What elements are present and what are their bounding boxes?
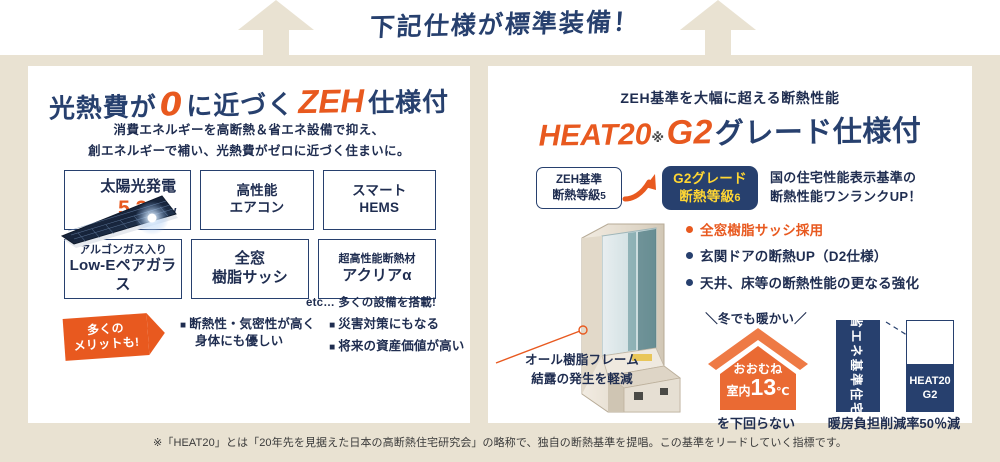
right-title-heat20: HEAT20	[538, 118, 651, 153]
etc-note: etc… 多くの設備を搭載!	[306, 294, 436, 310]
merits-column-2: ■災害対策にもなる ■将来の資産価値が高い	[329, 316, 464, 355]
badge-g2-label: 断熱等級	[679, 189, 734, 204]
merits-section: 多くの メリットも! ■断熱性・気密性が高く 身体にも優しい ■災害対策にもなる…	[64, 316, 464, 358]
house-temperature-value: 13	[751, 374, 777, 400]
merit-text: 災害対策にもなる	[338, 317, 439, 331]
badge-note-line2: 断熱性能ワンランクUP！	[770, 188, 922, 207]
spec-insulation-label1: 超高性能断熱材	[339, 253, 416, 267]
spec-cell-hems: スマート HEMS	[323, 170, 436, 230]
spec-row-2: アルゴンガス入り Low-Eペアガラス 全窓 樹脂サッシ 超高性能断熱材 アクリ…	[64, 239, 436, 299]
bar-standard-house: 省エネ基準住宅	[836, 320, 880, 412]
merits-column-1: ■断熱性・気密性が高く 身体にも優しい	[180, 316, 315, 355]
badge-g2-line2: 断熱等級6	[679, 188, 741, 206]
spec-cell-sash: 全窓 樹脂サッシ	[191, 239, 309, 299]
feature-bullet-text: 全窓樹脂サッシ採用	[700, 223, 823, 238]
badge-note-line1: 国の住宅性能表示基準の	[770, 169, 922, 188]
bar-chart-caption: 暖房負担削減率50％減	[822, 413, 966, 432]
spec-solar-label: 太陽光発電	[100, 178, 176, 197]
left-panel-title: 光熱費が0に近づくZEH仕様付	[28, 80, 471, 126]
feature-bullet-text: 玄関ドアの断熱UP（D2仕様）	[700, 249, 888, 264]
photo-callout: オール樹脂フレーム 結露の発生を軽減	[498, 351, 666, 389]
bar-heat20-label-line1: HEAT20	[909, 374, 950, 388]
badge-g2-line1: G2グレード	[673, 170, 747, 188]
badge-zeh-standard: ZEH基準 断熱等級5	[536, 167, 622, 209]
merit-item: ■断熱性・気密性が高く 身体にも優しい	[180, 316, 315, 350]
ribbon-line2: メリットも!	[73, 335, 140, 355]
house-text-line2: 室内13℃	[704, 374, 812, 401]
bar-heat20-fill: HEAT20 G2	[906, 364, 954, 412]
bar-standard-label: 省エネ基準住宅	[836, 320, 880, 412]
badge-note: 国の住宅性能表示基準の 断熱性能ワンランクUP！	[770, 169, 922, 207]
comfort-figure: ＼冬でも暖かい／ おおむね 室内13℃ を下回らない 省エネ基準住宅 HEAT2…	[684, 308, 966, 428]
upgrade-arrow-icon	[622, 168, 662, 208]
spec-hems-label2: HEMS	[359, 200, 399, 217]
bar-heat20-g2: HEAT20 G2	[906, 320, 954, 412]
spec-cell-glass: アルゴンガス入り Low-Eペアガラス	[64, 239, 182, 299]
house-below-caption: を下回らない	[690, 413, 822, 432]
right-title-g2: G2	[664, 113, 715, 152]
photo-callout-line2: 結露の発生を軽減	[498, 370, 666, 389]
top-banner: 下記仕様が標準装備！	[0, 0, 1000, 62]
banner-headline: 下記仕様が標準装備！	[354, 2, 657, 44]
left-title-post: 仕様付	[368, 88, 450, 119]
spec-row-1: 太陽光発電 5.36kw 高性能 エアコン スマート HEMS	[64, 170, 436, 230]
feature-bullet-sash: 全窓樹脂サッシ採用	[686, 218, 919, 244]
badge-zeh-number: 5	[600, 191, 606, 202]
merits-list: ■断熱性・気密性が高く 身体にも優しい ■災害対策にもなる ■将来の資産価値が高…	[180, 316, 464, 355]
left-title-zeh: ZEH	[294, 82, 369, 120]
feature-bullets: 全窓樹脂サッシ採用 玄関ドアの断熱UP（D2仕様） 天井、床等の断熱性能の更なる…	[686, 218, 919, 297]
left-title-zero: 0	[157, 85, 187, 124]
right-panel-title: HEAT20※G2グレード仕様付	[488, 107, 973, 156]
photo-callout-line1: オール樹脂フレーム	[498, 351, 666, 370]
house-indoor-label: 室内	[727, 384, 751, 398]
left-panel: 光熱費が0に近づくZEH仕様付 消費エネルギーを高断熱＆省エネ設備で抑え、 創エ…	[28, 66, 470, 423]
bar-heat20-label-line2: G2	[923, 388, 938, 402]
merit-item: ■将来の資産価値が高い	[329, 338, 464, 355]
spec-grid: 太陽光発電 5.36kw 高性能 エアコン スマート HEMS アルゴンガス入り…	[64, 170, 436, 308]
merit-text: 将来の資産価値が高い	[338, 339, 464, 353]
spec-aircon-label2: エアコン	[230, 200, 285, 217]
house-temperature-unit: ℃	[776, 386, 789, 398]
badge-g2-grade: G2グレード 断熱等級6	[662, 166, 758, 210]
left-subtitle-line1: 消費エネルギーを高断熱＆省エネ設備で抑え、	[28, 120, 470, 141]
merit-item: ■災害対策にもなる	[329, 316, 464, 333]
spec-glass-label2: Low-Eペアガラス	[65, 257, 181, 294]
spec-cell-solar: 太陽光発電 5.36kw	[64, 170, 191, 230]
right-title-ref-mark: ※	[651, 131, 664, 146]
left-title-mid: に近づく	[186, 90, 295, 122]
right-panel: ZEH基準を大幅に超える断熱性能 HEAT20※G2グレード仕様付 ZEH基準 …	[488, 66, 972, 423]
right-title-post: グレード仕様付	[715, 113, 922, 150]
left-panel-subtitle: 消費エネルギーを高断熱＆省エネ設備で抑え、 創エネルギーで補い、光熱費がゼロに近…	[28, 120, 470, 161]
spec-cell-aircon: 高性能 エアコン	[200, 170, 313, 230]
right-panel-subtitle: ZEH基準を大幅に超える断熱性能	[488, 88, 972, 108]
bullet-square-icon: ■	[329, 320, 335, 331]
feature-bullet-text: 天井、床等の断熱性能の更なる強化	[700, 276, 919, 291]
spec-aircon-label1: 高性能	[236, 183, 277, 200]
spec-insulation-label2: アクリアα	[342, 267, 411, 286]
infographic-root: 下記仕様が標準装備！ 光熱費が0に近づくZEH仕様付 消費エネルギーを高断熱＆省…	[0, 0, 1000, 462]
merits-ribbon: 多くの メリットも!	[63, 313, 150, 361]
spec-solar-unit: kw	[159, 203, 176, 218]
footnote: ※「HEAT20」とは「20年先を見据えた日本の高断熱住宅研究会」の略称で、独自…	[0, 434, 1000, 450]
bullet-square-icon: ■	[329, 342, 335, 353]
grade-badges: ZEH基準 断熱等級5 G2グレード 断熱等級6 国の住宅性能表示基準の 断熱性…	[536, 166, 922, 210]
badge-zeh-label: 断熱等級	[552, 188, 600, 202]
merit-text-cont: 身体にも優しい	[180, 333, 315, 350]
spec-sash-label2: 樹脂サッシ	[212, 269, 288, 288]
badge-zeh-line2: 断熱等級5	[552, 188, 606, 204]
spec-cell-insulation: 超高性能断熱材 アクリアα	[318, 239, 436, 299]
feature-bullet-ceiling: 天井、床等の断熱性能の更なる強化	[686, 271, 919, 297]
left-subtitle-line2: 創エネルギーで補い、光熱費がゼロに近づく住まいに。	[28, 141, 470, 162]
spec-sash-label1: 全窓	[235, 250, 265, 269]
spec-glass-label1: アルゴンガス入り	[79, 244, 167, 258]
feature-bullet-door: 玄関ドアの断熱UP（D2仕様）	[686, 244, 919, 270]
badge-zeh-line1: ZEH基準	[556, 173, 602, 188]
merit-text: 断熱性・気密性が高く	[189, 317, 315, 331]
bullet-square-icon: ■	[180, 320, 186, 331]
badge-g2-number: 6	[734, 192, 740, 204]
spec-solar-value: 5.36	[118, 197, 159, 220]
spec-hems-label1: スマート	[352, 183, 406, 200]
